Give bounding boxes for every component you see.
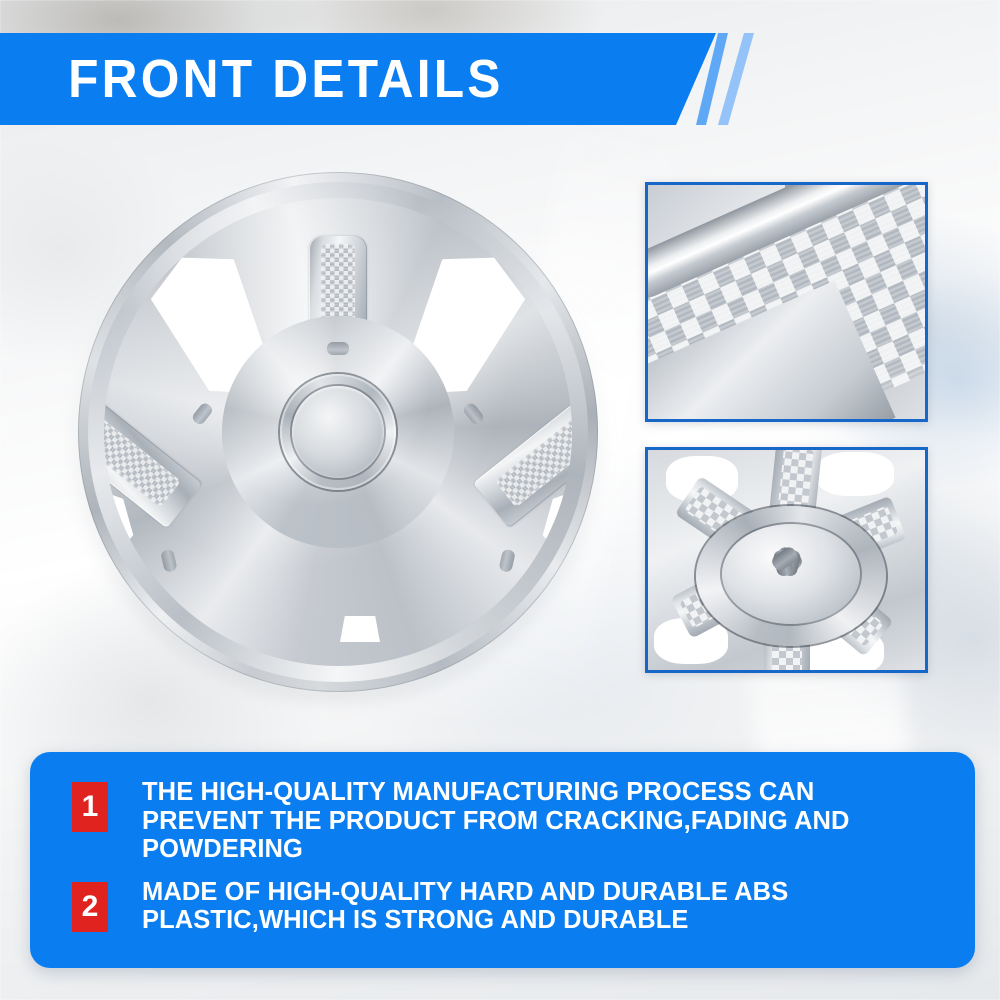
hubcap-main-image: [78, 172, 598, 692]
feature-item-1: 1 THE HIGH-QUALITY MANUFACTURING PROCESS…: [72, 778, 941, 864]
page-title: FRONT DETAILS: [0, 52, 504, 106]
detail-inset-carbon-fiber: [645, 182, 928, 422]
banner-shape: FRONT DETAILS: [0, 33, 716, 125]
hub-lug-notch: [498, 549, 516, 573]
feature-text: THE HIGH-QUALITY MANUFACTURING PROCESS C…: [142, 778, 941, 864]
valve-stem-cutout: [340, 616, 380, 642]
detail-inset-center-hub: [645, 447, 928, 673]
center-hub-closeup: [648, 450, 925, 670]
hub-lug-notch: [160, 549, 178, 573]
feature-number-badge: 2: [72, 882, 108, 932]
window-opening: [816, 452, 894, 496]
feature-number-badge: 1: [72, 782, 108, 832]
feature-text: MADE OF HIGH-QUALITY HARD AND DURABLE AB…: [142, 878, 941, 935]
hubcap-center-cap: [292, 386, 384, 478]
hubcap-spoke: [104, 643, 153, 666]
hub-lug-notch: [462, 401, 486, 426]
hubcap-spoke: [523, 643, 572, 666]
hubcap-face: [104, 198, 572, 666]
features-panel: 1 THE HIGH-QUALITY MANUFACTURING PROCESS…: [30, 752, 975, 968]
hub-lug-notch: [327, 342, 349, 355]
product-detail-page: FRONT DETAILS: [0, 0, 1000, 1000]
header-banner: FRONT DETAILS: [0, 33, 1000, 125]
carbon-fiber-texture-closeup: [648, 185, 925, 419]
feature-item-2: 2 MADE OF HIGH-QUALITY HARD AND DURABLE …: [72, 878, 941, 935]
